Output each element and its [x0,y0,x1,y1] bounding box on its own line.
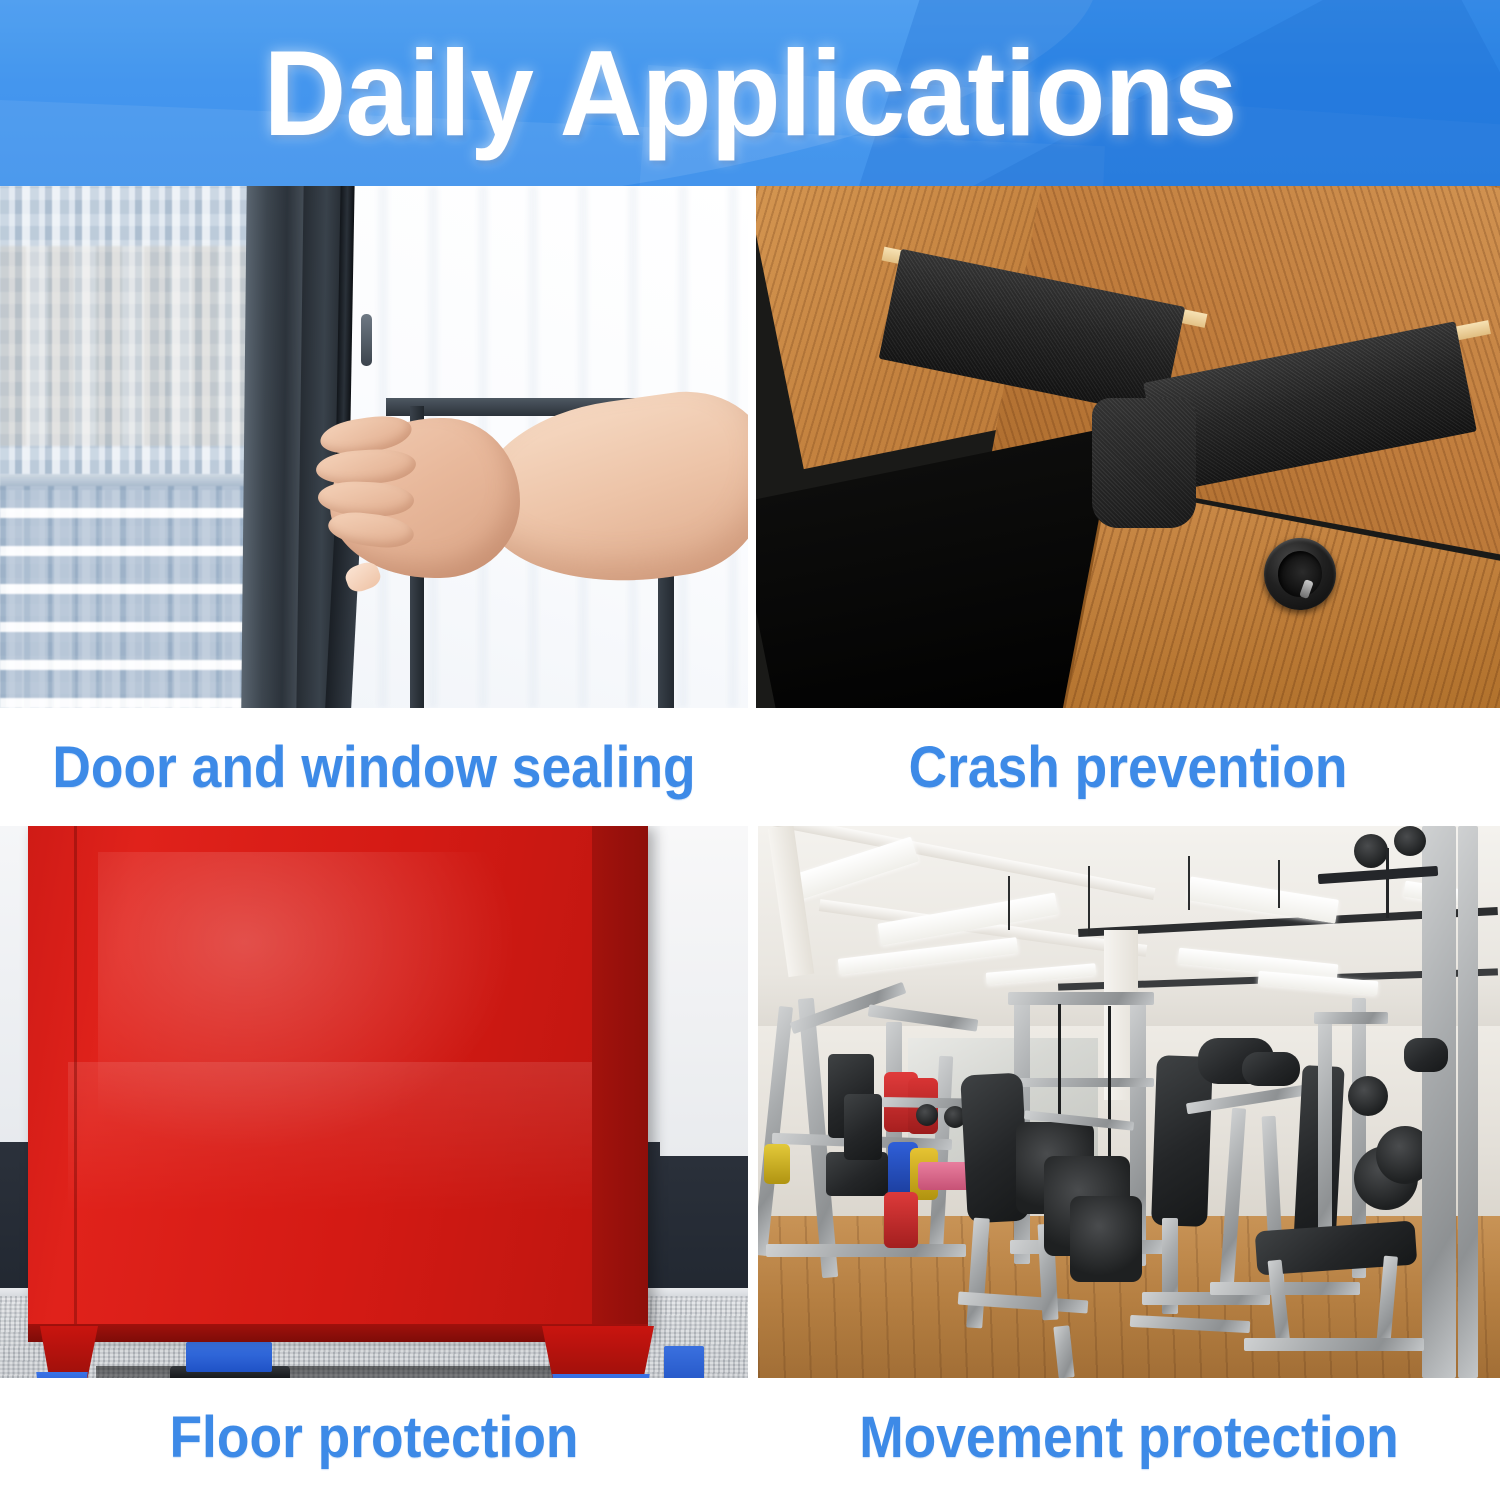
squat-rack-top [1008,992,1154,1005]
weight-plate-stack [1070,1196,1142,1282]
dumbbell [916,1104,938,1126]
panel-crash-prevention [756,186,1500,708]
machine-pad [1404,1038,1448,1072]
cabinet-leg [542,1326,654,1378]
caption-movement-protection: Movement protection [788,1378,1471,1496]
leg-cap [664,1346,704,1378]
keyhole [1299,579,1314,599]
hanging-cable [1188,856,1190,910]
weight-plate [1348,1076,1388,1116]
foam-corner-guard [1092,398,1196,528]
window-frame [241,186,305,708]
hand-pressing-seal [312,386,748,626]
bench-back-pad [1151,1055,1213,1227]
machine-top-bar [1314,1012,1388,1024]
weight-plate-yellow [764,1144,790,1184]
cable-line [1386,848,1389,918]
cabinet-under-shadow [96,1366,566,1378]
hanging-cable [1008,876,1010,930]
panel-movement-protection [758,826,1500,1378]
wall-right-light [660,826,748,1156]
gym-machine-base [766,1244,966,1257]
machine-handle-pad [1242,1052,1300,1086]
page-title: Daily Applications [45,0,1455,186]
header-banner: Daily Applications [0,0,1500,186]
lock-barrel [1275,548,1325,600]
cabinet-seam [74,826,77,1328]
hanging-cable [1088,866,1090,936]
panel-door-window-sealing [0,186,748,708]
foam-texture [1092,398,1196,528]
cable-weight [1394,826,1426,856]
cable-weight [1354,834,1388,868]
red-cabinet [28,826,648,1334]
bench-foot-rail [1244,1338,1424,1351]
cabinet-highlight [68,1062,628,1212]
cable-tower-post [1422,826,1456,1378]
cable-tower-post [1458,826,1478,1378]
caption-door-window-sealing: Door and window sealing [30,708,718,826]
cable-line [1108,1006,1111,1156]
caption-crash-prevention: Crash prevention [786,708,1470,826]
hanging-cable [1278,860,1280,908]
panel-floor-protection [0,826,748,1378]
weight-plate-red [884,1192,918,1248]
leg-cap [186,1342,272,1372]
machine-back-pad [844,1094,882,1160]
cable-line [1058,1004,1061,1124]
cabinet-side-panel [592,826,648,1334]
product-infographic: Daily Applications [0,0,1500,1500]
caption-floor-protection: Floor protection [30,1378,718,1496]
window-handle [361,314,372,366]
squat-rack-bar [1008,1078,1154,1087]
